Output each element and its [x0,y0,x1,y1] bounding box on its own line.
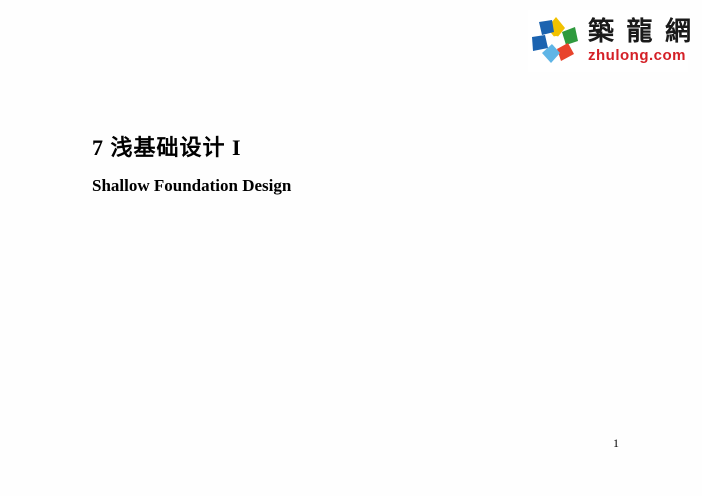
brand-logo: 築 龍 網 zhulong.com [528,10,688,72]
slide-canvas: 築 龍 網 zhulong.com 7 浅基础设计 I Shallow Foun… [0,0,702,496]
logo-wordmark: 築 龍 網 zhulong.com [588,19,694,63]
page-number: 1 [613,436,619,451]
flower-logo-icon [528,13,584,69]
slide-title-en: Shallow Foundation Design [92,176,291,196]
logo-name-en: zhulong.com [588,48,694,63]
logo-name-cn: 築 龍 網 [588,19,694,45]
slide-title-cn: 7 浅基础设计 I [92,130,242,162]
